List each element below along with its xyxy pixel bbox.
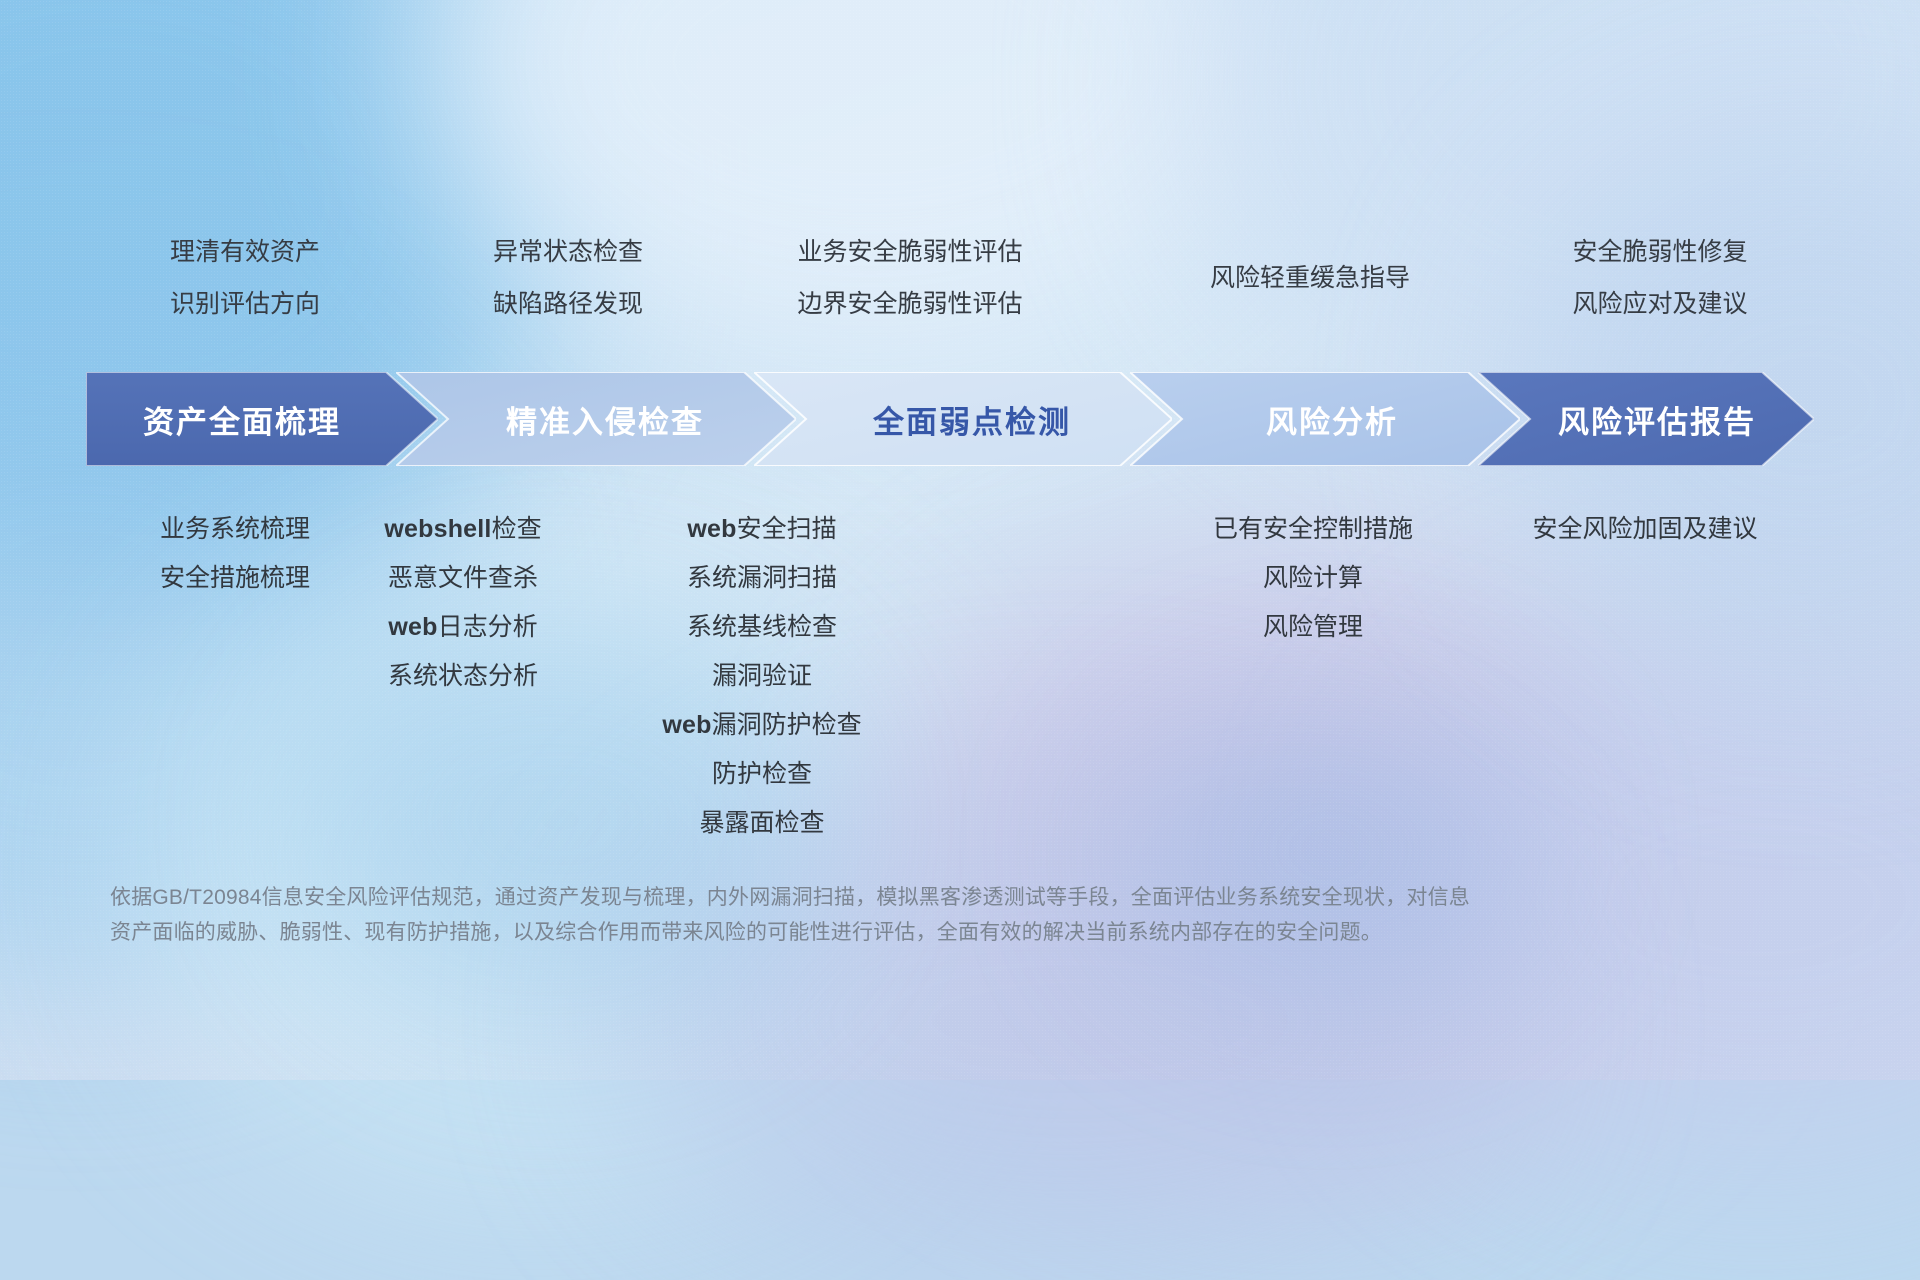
item-text: 漏洞防护检查 bbox=[712, 711, 862, 739]
stage-title: 风险分析 bbox=[1266, 397, 1398, 442]
item-text: 检查 bbox=[492, 515, 542, 543]
process-chevron-band: 资产全面梳理 精准入侵检查 bbox=[86, 372, 1814, 466]
list-item: web日志分析 bbox=[308, 603, 618, 652]
list-item: 安全风险加固及建议 bbox=[1455, 505, 1835, 554]
list-item: 安全脆弱性修复 bbox=[1505, 226, 1815, 278]
item-text: 业务系统梳理 bbox=[160, 515, 310, 543]
stage-bottom-items-intrusion-check: webshell检查 恶意文件查杀 web日志分析 系统状态分析 bbox=[308, 505, 618, 701]
item-latin: web bbox=[388, 613, 437, 641]
item-latin: web bbox=[687, 515, 736, 543]
footer-description: 依据GB/T20984信息安全风险评估规范，通过资产发现与梳理，内外网漏洞扫描，… bbox=[110, 880, 1740, 950]
item-text: 恶意文件查杀 bbox=[388, 564, 538, 592]
stage-top-items-intrusion-check: 异常状态检查 缺陷路径发现 bbox=[413, 226, 723, 330]
item-text: 暴露面检查 bbox=[699, 809, 824, 837]
item-latin: webshell bbox=[384, 515, 491, 543]
item-text: 安全扫描 bbox=[737, 515, 837, 543]
stage-title: 全面弱点检测 bbox=[873, 397, 1071, 442]
stage-chevron-asset-inventory[interactable]: 资产全面梳理 bbox=[86, 372, 438, 466]
stage-title: 精准入侵检查 bbox=[506, 397, 704, 442]
item-text: 已有安全控制措施 bbox=[1213, 515, 1413, 543]
list-item: 恶意文件查杀 bbox=[308, 554, 618, 603]
stage-chevron-weakness-detection[interactable]: 全面弱点检测 bbox=[754, 372, 1172, 466]
item-text: 漏洞验证 bbox=[712, 662, 812, 690]
stage-chevron-risk-report[interactable]: 风险评估报告 bbox=[1478, 372, 1814, 466]
item-text: 系统状态分析 bbox=[388, 662, 538, 690]
footer-line-2: 资产面临的威胁、脆弱性、现有防护措施，以及综合作用而带来风险的可能性进行评估，全… bbox=[110, 915, 1740, 950]
list-item: 风险应对及建议 bbox=[1505, 278, 1815, 330]
list-item: 已有安全控制措施 bbox=[1158, 505, 1468, 554]
item-latin: web bbox=[662, 711, 711, 739]
list-item: 业务安全脆弱性评估 bbox=[755, 226, 1065, 278]
stage-bottom-items-risk-analysis: 已有安全控制措施 风险计算 风险管理 bbox=[1158, 505, 1468, 652]
list-item: 风险轻重缓急指导 bbox=[1155, 252, 1465, 304]
list-item: 防护检查 bbox=[607, 750, 917, 799]
item-text: 防护检查 bbox=[712, 760, 812, 788]
list-item: 系统漏洞扫描 bbox=[607, 554, 917, 603]
list-item: 异常状态检查 bbox=[413, 226, 723, 278]
item-text: 安全措施梳理 bbox=[160, 564, 310, 592]
list-item: 漏洞验证 bbox=[607, 652, 917, 701]
list-item: 边界安全脆弱性评估 bbox=[755, 278, 1065, 330]
item-text: 风险计算 bbox=[1263, 564, 1363, 592]
list-item: 缺陷路径发现 bbox=[413, 278, 723, 330]
stage-chevron-intrusion-check[interactable]: 精准入侵检查 bbox=[396, 372, 796, 466]
list-item: 暴露面检查 bbox=[607, 799, 917, 848]
list-item: 理清有效资产 bbox=[90, 226, 400, 278]
stage-chevron-risk-analysis[interactable]: 风险分析 bbox=[1130, 372, 1520, 466]
list-item: 风险计算 bbox=[1158, 554, 1468, 603]
list-item: 系统基线检查 bbox=[607, 603, 917, 652]
item-text: 安全风险加固及建议 bbox=[1532, 515, 1757, 543]
stage-top-items-weakness-detection: 业务安全脆弱性评估 边界安全脆弱性评估 bbox=[755, 226, 1065, 330]
stage-top-items-risk-report: 安全脆弱性修复 风险应对及建议 bbox=[1505, 226, 1815, 330]
stage-bottom-items-risk-report: 安全风险加固及建议 bbox=[1455, 505, 1835, 554]
list-item: 风险管理 bbox=[1158, 603, 1468, 652]
footer-line-1: 依据GB/T20984信息安全风险评估规范，通过资产发现与梳理，内外网漏洞扫描，… bbox=[110, 880, 1740, 915]
list-item: 识别评估方向 bbox=[90, 278, 400, 330]
stage-title: 资产全面梳理 bbox=[143, 397, 341, 442]
list-item: webshell检查 bbox=[308, 505, 618, 554]
process-diagram: 理清有效资产 识别评估方向 异常状态检查 缺陷路径发现 业务安全脆弱性评估 边界… bbox=[0, 0, 1920, 1080]
item-text: 日志分析 bbox=[438, 613, 538, 641]
list-item: web漏洞防护检查 bbox=[607, 701, 917, 750]
stage-top-items-asset-inventory: 理清有效资产 识别评估方向 bbox=[90, 226, 400, 330]
stage-bottom-items-weakness-detection: web安全扫描 系统漏洞扫描 系统基线检查 漏洞验证 web漏洞防护检查 防护检… bbox=[607, 505, 917, 848]
item-text: 系统漏洞扫描 bbox=[687, 564, 837, 592]
item-text: 系统基线检查 bbox=[687, 613, 837, 641]
list-item: 系统状态分析 bbox=[308, 652, 618, 701]
item-text: 风险管理 bbox=[1263, 613, 1363, 641]
list-item: web安全扫描 bbox=[607, 505, 917, 554]
stage-title: 风险评估报告 bbox=[1558, 397, 1756, 442]
stage-top-items-risk-analysis: 风险轻重缓急指导 bbox=[1155, 252, 1465, 304]
